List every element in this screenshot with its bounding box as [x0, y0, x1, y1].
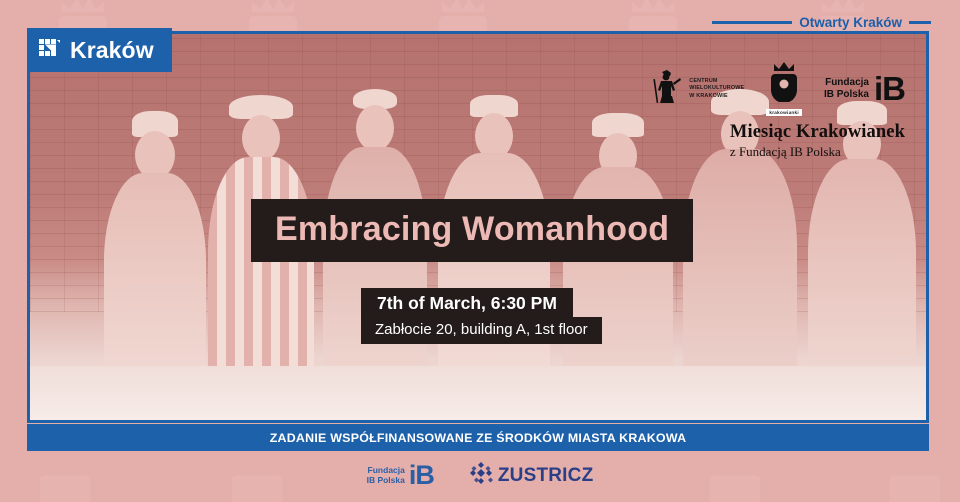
- footer-logo-zustricz: ZUSTRICZ: [468, 460, 594, 491]
- folk-figure-icon: [653, 69, 685, 110]
- funding-banner-text: ZADANIE WSPÓŁFINANSOWANE ZE ŚRODKÓW MIAS…: [270, 431, 687, 445]
- logo-fundacja-ib-polska-text: Fundacja IB Polska: [824, 77, 869, 101]
- page-title: Embracing Womanhood: [275, 210, 669, 249]
- event-datetime: 7th of March, 6:30 PM: [361, 288, 573, 318]
- event-series-subtitle: z Fundacją IB Polska: [730, 144, 905, 160]
- logo-krakowianki: krakowianki: [766, 62, 802, 116]
- logo-fundacja-ib-polska: Fundacja IB Polska iB: [824, 75, 905, 102]
- rule-left: [712, 21, 792, 24]
- logo-centrum-wielokulturowe-text: CENTRUM WIELOKULTUROWE W KRAKOWIE: [689, 78, 744, 100]
- crown-icon: [767, 89, 801, 106]
- funding-banner: ZADANIE WSPÓŁFINANSOWANE ZE ŚRODKÓW MIAS…: [27, 424, 929, 451]
- partner-logos: CENTRUM WIELOKULTUROWE W KRAKOWIE krakow…: [653, 62, 905, 116]
- logo-ib-mark: iB: [874, 75, 905, 102]
- photo-ground: [30, 366, 926, 420]
- footer-logos: Fundacja IB Polska iB ZUSTRICZ: [0, 460, 960, 491]
- krakow-logo-label: Kraków: [70, 37, 154, 64]
- photo-figure: [100, 105, 210, 405]
- event-series-label: Miesiąc Krakowianek z Fundacją IB Polska: [730, 122, 905, 160]
- event-details: 7th of March, 6:30 PM Zabłocie 20, build…: [361, 288, 602, 344]
- krakow-grid-icon: [39, 39, 61, 61]
- event-title-band: Embracing Womanhood: [251, 199, 693, 262]
- otwarty-krakow-text: Otwarty Kraków: [799, 15, 902, 30]
- krakow-city-logo[interactable]: Kraków: [27, 28, 172, 72]
- footer-logo-ib-text: Fundacja IB Polska: [367, 466, 405, 486]
- zustricz-ornament-icon: [468, 460, 494, 491]
- footer-logo-zustricz-name: ZUSTRICZ: [498, 465, 594, 487]
- event-location: Zabłocie 20, building A, 1st floor: [361, 317, 602, 344]
- footer-logo-ib-mark: iB: [409, 465, 434, 487]
- logo-krakowianki-caption: krakowianki: [766, 109, 802, 116]
- footer-logo-fundacja-ib-polska: Fundacja IB Polska iB: [367, 465, 434, 487]
- otwarty-krakow-label: Otwarty Kraków: [712, 15, 931, 30]
- rule-right: [909, 21, 931, 24]
- event-series-title: Miesiąc Krakowianek: [730, 122, 905, 143]
- logo-centrum-wielokulturowe: CENTRUM WIELOKULTUROWE W KRAKOWIE: [653, 69, 744, 110]
